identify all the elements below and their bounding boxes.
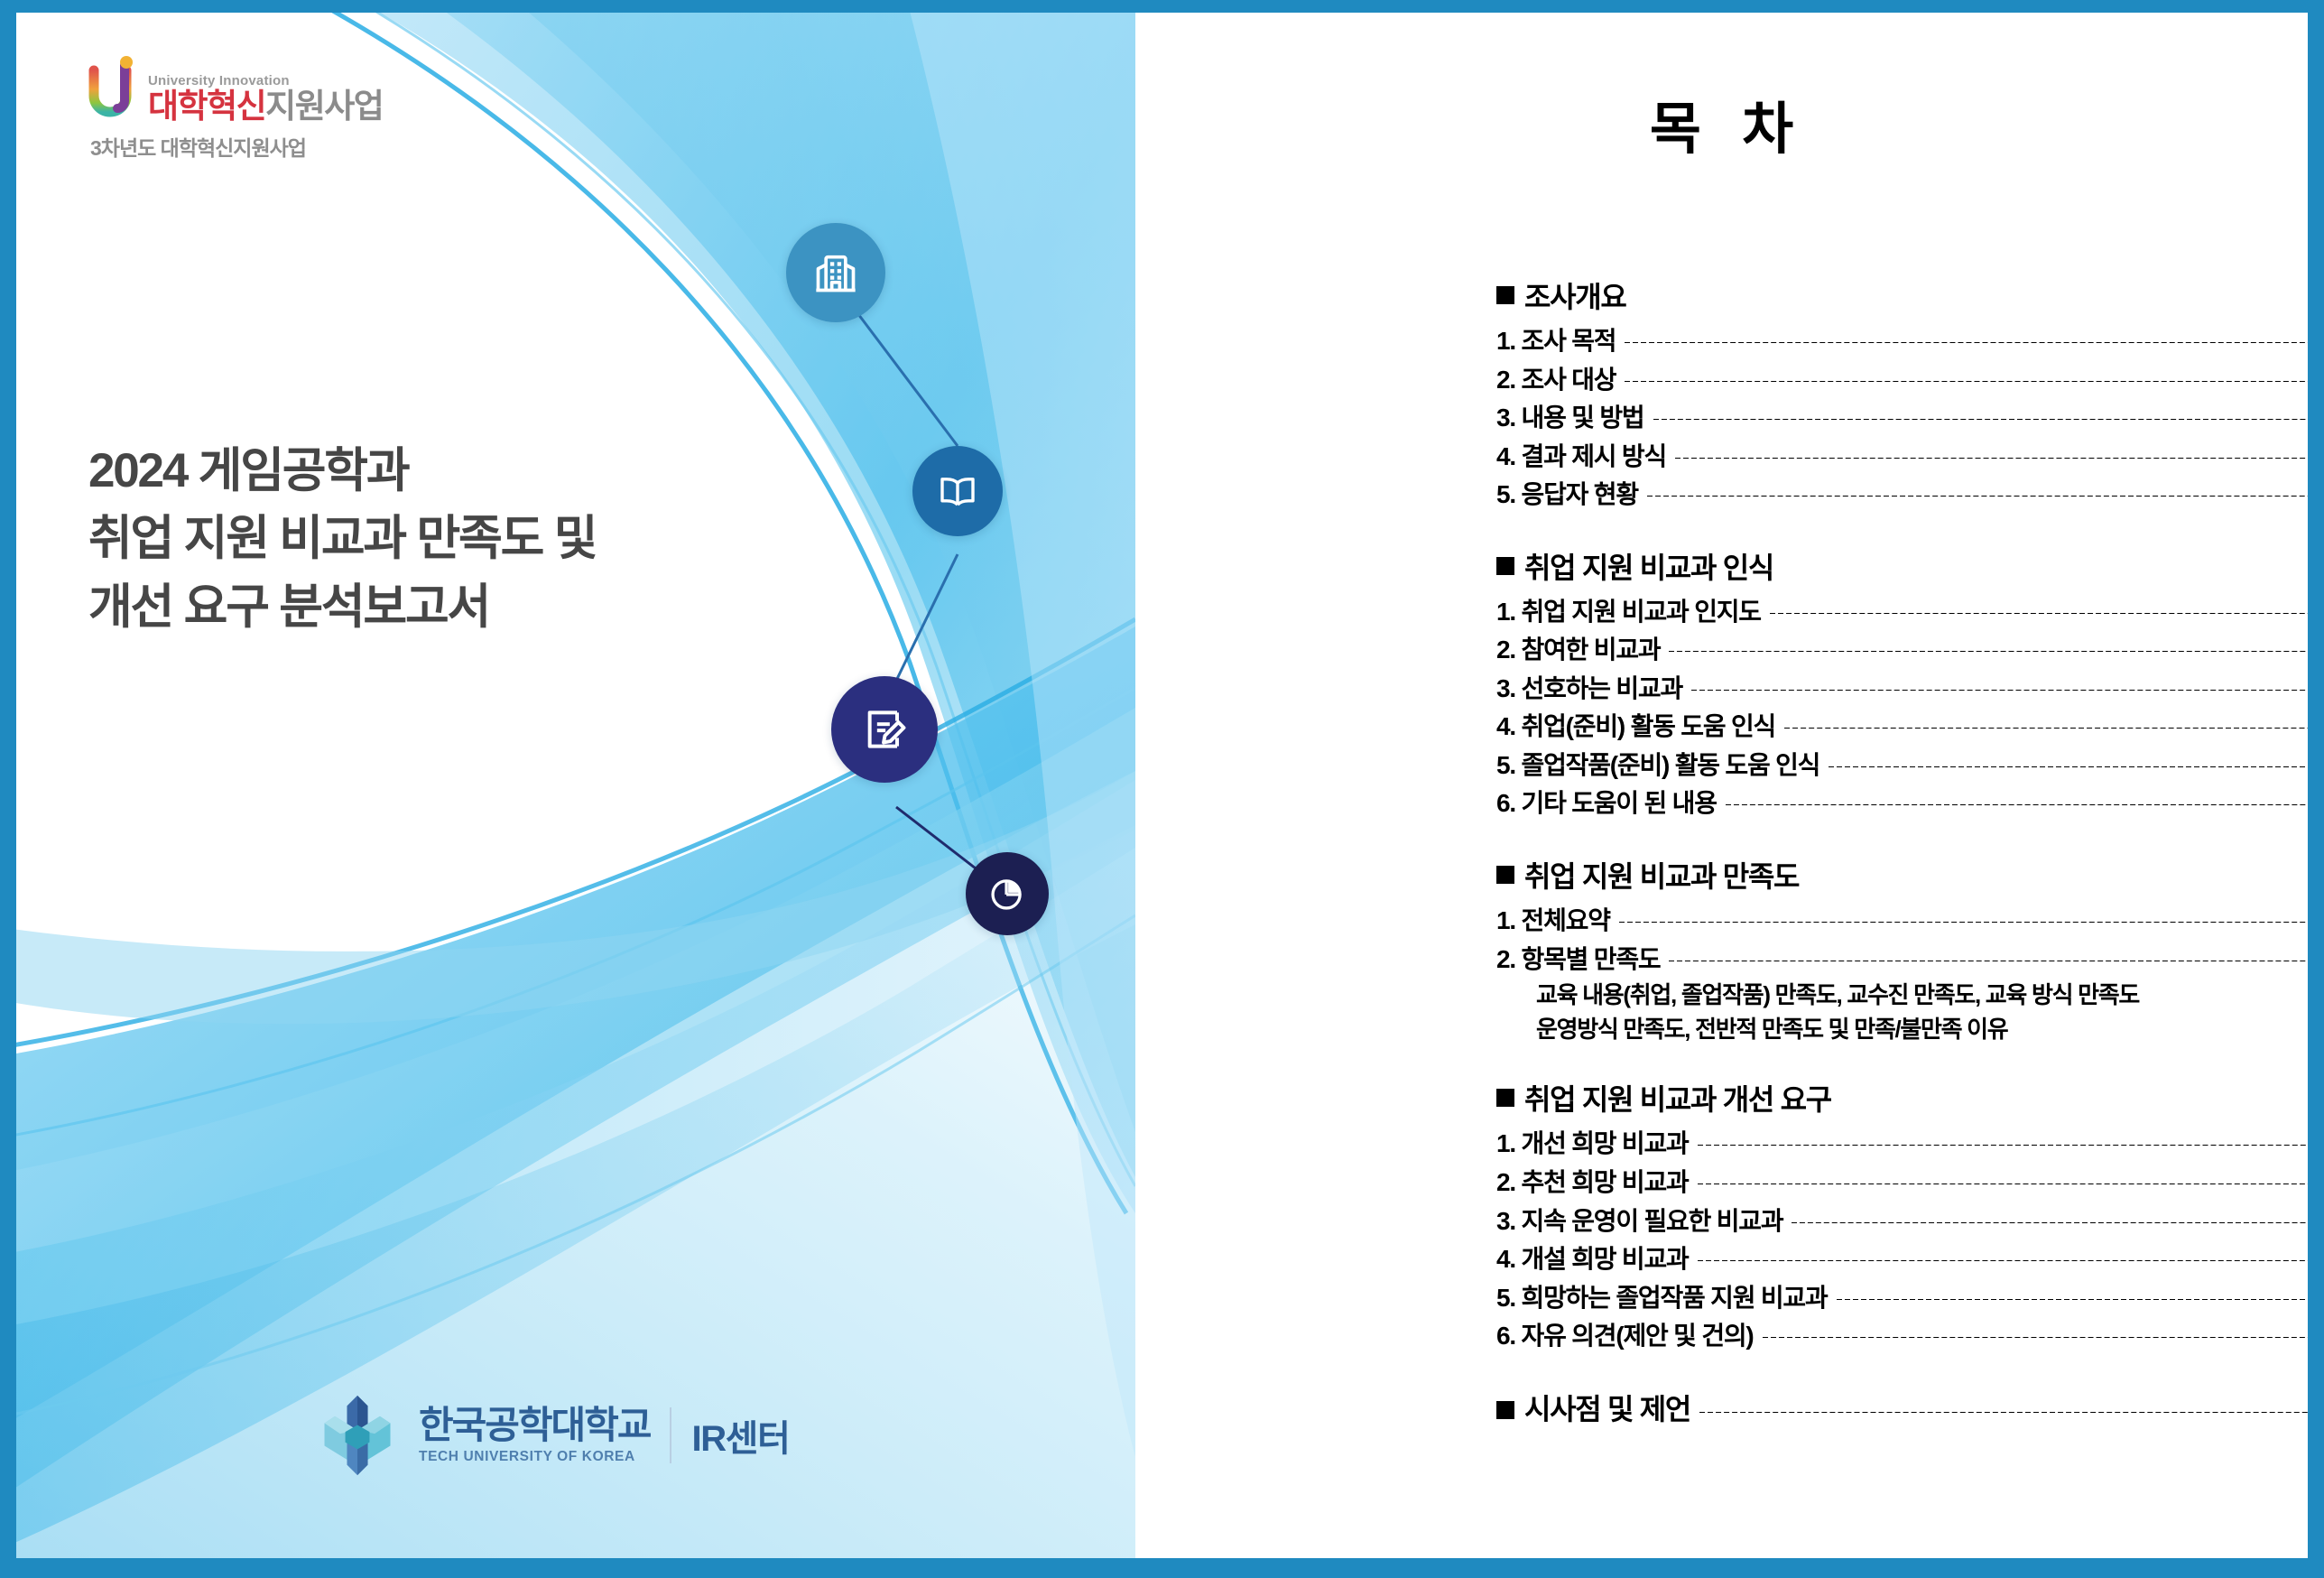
toc-final-heading: 시사점 및 제언 16 (1496, 1387, 2308, 1428)
toc-item[interactable]: 1. 전체요약 7 (1496, 902, 2308, 941)
university-english-name: TECH UNIVERSITY OF KOREA (419, 1449, 650, 1465)
toc-subnote: 운영방식 만족도, 전반적 만족도 및 만족/불만족 이유 (1496, 1013, 2308, 1047)
program-logo-kor-red: 대학혁신 (148, 88, 265, 125)
chain-node-survey (831, 676, 938, 783)
toc-leader-dots (1792, 1222, 2308, 1223)
toc-section-heading-label: 취업 지원 비교과 만족도 (1524, 854, 1799, 896)
icon-chain (16, 13, 1135, 1558)
tech-university-snowflake-icon (314, 1392, 401, 1479)
ir-center-name: IR센터 (691, 1409, 789, 1462)
toc-section-heading: 취업 지원 비교과 인식 (1496, 545, 2308, 587)
toc-item[interactable]: 3. 지속 운영이 필요한 비교과 12 (1496, 1202, 2308, 1241)
toc-item-label: 5. 졸업작품(준비) 활동 도움 인식 (1496, 747, 1819, 785)
toc-item-label: 1. 조사 목적 (1496, 322, 1616, 361)
toc-item-label: 5. 희망하는 졸업작품 지원 비교과 (1496, 1279, 1828, 1318)
program-logo-subtitle: 3차년도 대학혁신지원사업 (90, 131, 383, 162)
toc-leader-dots (1784, 728, 2308, 729)
toc-section-heading-label: 취업 지원 비교과 개선 요구 (1524, 1077, 1831, 1119)
toc-leader-dots (1675, 458, 2308, 459)
logo-divider (670, 1407, 671, 1463)
toc-leader-dots (1698, 1260, 2308, 1261)
toc-item[interactable]: 3. 선호하는 비교과 4 (1496, 670, 2308, 709)
university-logo: 한국공학대학교 TECH UNIVERSITY OF KOREA IR센터 (314, 1392, 789, 1479)
toc-leader-dots (1699, 1412, 2308, 1413)
university-innovation-mark-icon (87, 56, 139, 123)
toc-section-final[interactable]: 시사점 및 제언 16 (1496, 1387, 2308, 1428)
section-bullet-square-icon (1496, 1089, 1514, 1107)
toc-item[interactable]: 6. 기타 도움이 된 내용 6 (1496, 784, 2308, 823)
toc-item-label: 6. 자유 의견(제안 및 건의) (1496, 1317, 1754, 1356)
toc-leader-dots (1669, 961, 2308, 961)
toc-item-label: 2. 조사 대상 (1496, 361, 1616, 400)
toc-item-label: 3. 내용 및 방법 (1496, 399, 1644, 438)
toc-item[interactable]: 4. 개설 희망 비교과 13 (1496, 1240, 2308, 1279)
section-bullet-square-icon (1496, 557, 1514, 575)
toc-item[interactable]: 5. 희망하는 졸업작품 지원 비교과 14 (1496, 1279, 2308, 1318)
toc-item-label: 5. 응답자 현황 (1496, 476, 1638, 515)
toc-item-label: 4. 결과 제시 방식 (1496, 438, 1666, 477)
chain-node-building (786, 223, 885, 322)
toc-item-label: 3. 선호하는 비교과 (1496, 670, 1682, 709)
chain-node-pie-chart (966, 852, 1049, 935)
section-bullet-square-icon (1496, 1401, 1514, 1419)
pie-chart-icon (987, 874, 1027, 914)
toc-item[interactable]: 3. 내용 및 방법 1 (1496, 399, 2308, 438)
section-bullet-square-icon (1496, 866, 1514, 884)
toc-leader-dots (1653, 419, 2309, 420)
toc-leader-dots (1698, 1183, 2308, 1184)
cover-title: 2024 게임공학과 취업 지원 비교과 만족도 및 개선 요구 분석보고서 (88, 437, 596, 641)
toc-item-label: 6. 기타 도움이 된 내용 (1496, 784, 1717, 823)
toc-section-heading: 취업 지원 비교과 개선 요구 (1496, 1077, 2308, 1119)
toc-section: 취업 지원 비교과 인식 1. 취업 지원 비교과 인지도 3 2. 참여한 비… (1496, 545, 2308, 823)
university-korean-name: 한국공학대학교 (419, 1406, 650, 1445)
toc-title: 목 차 (1135, 83, 2308, 164)
toc-leader-dots (1625, 381, 2308, 382)
toc-item[interactable]: 1. 취업 지원 비교과 인지도 3 (1496, 593, 2308, 632)
toc-item-label: 3. 지속 운영이 필요한 비교과 (1496, 1202, 1782, 1241)
toc-item-label: 4. 개설 희망 비교과 (1496, 1240, 1689, 1279)
toc-leader-dots (1625, 342, 2308, 343)
program-logo-tagline: University Innovation (148, 73, 383, 88)
toc-item[interactable]: 2. 조사 대상 1 (1496, 361, 2308, 400)
toc-section-heading: 취업 지원 비교과 만족도 (1496, 854, 2308, 896)
toc-leader-dots (1698, 1145, 2308, 1146)
cover-panel: University Innovation 대학혁신지원사업 3차년도 대학혁신… (16, 13, 1135, 1558)
toc-item[interactable]: 2. 추천 희망 비교과 12 (1496, 1164, 2308, 1202)
document-page: University Innovation 대학혁신지원사업 3차년도 대학혁신… (16, 13, 2308, 1558)
toc-item[interactable]: 4. 결과 제시 방식 1 (1496, 438, 2308, 477)
toc-item[interactable]: 5. 응답자 현황 2 (1496, 476, 2308, 515)
toc-section-heading-label: 조사개요 (1524, 274, 1626, 316)
toc-item[interactable]: 1. 조사 목적 1 (1496, 322, 2308, 361)
toc-final-heading-label: 시사점 및 제언 (1524, 1387, 1690, 1428)
toc-section-heading: 조사개요 (1496, 274, 2308, 316)
toc-leader-dots (1829, 766, 2308, 767)
program-logo-kor-gray: 지원사업 (265, 88, 383, 125)
toc-item-label: 2. 항목별 만족도 (1496, 941, 1660, 979)
toc-leader-dots (1691, 690, 2308, 691)
cover-title-line-1: 2024 게임공학과 (88, 437, 596, 505)
toc-item-label: 1. 개선 희망 비교과 (1496, 1125, 1689, 1164)
cover-title-line-3: 개선 요구 분석보고서 (88, 573, 596, 641)
program-logo: University Innovation 대학혁신지원사업 3차년도 대학혁신… (87, 56, 383, 162)
toc-leader-dots (1770, 613, 2308, 614)
toc-item-label: 1. 전체요약 (1496, 902, 1610, 941)
toc-leader-dots (1669, 651, 2308, 652)
building-icon (812, 249, 859, 296)
toc-item-label: 4. 취업(준비) 활동 도움 인식 (1496, 708, 1775, 747)
toc-item-label: 2. 추천 희망 비교과 (1496, 1164, 1689, 1202)
toc-panel: 목 차 조사개요 1. 조사 목적 1 2. 조사 대상 1 (1135, 13, 2308, 1558)
toc-leader-dots (1647, 496, 2308, 497)
cover-title-line-2: 취업 지원 비교과 만족도 및 (88, 505, 596, 572)
toc-leader-dots (1726, 804, 2308, 805)
toc-section: 조사개요 1. 조사 목적 1 2. 조사 대상 1 3. 내용 및 방법 1 (1496, 274, 2308, 515)
toc-item[interactable]: 1. 개선 희망 비교과 - 11 (1496, 1125, 2308, 1164)
toc-item[interactable]: 2. 참여한 비교과 3 (1496, 631, 2308, 670)
program-logo-korean-name: 대학혁신지원사업 (148, 89, 383, 123)
survey-document-icon (859, 704, 910, 755)
chain-node-book (912, 446, 1003, 536)
book-icon (936, 469, 979, 513)
toc-leader-dots (1619, 922, 2308, 923)
toc-section: 취업 지원 비교과 개선 요구 1. 개선 희망 비교과 - 11 2. 추천 … (1496, 1077, 2308, 1355)
toc-section: 취업 지원 비교과 만족도 1. 전체요약 7 2. 항목별 만족도 7 교육 … (1496, 854, 2308, 1046)
toc-section-heading-label: 취업 지원 비교과 인식 (1524, 545, 1773, 587)
toc-leader-dots (1763, 1337, 2308, 1338)
section-bullet-square-icon (1496, 286, 1514, 304)
toc-item[interactable]: 6. 자유 의견(제안 및 건의) 15 (1496, 1317, 2308, 1356)
toc-item[interactable]: 5. 졸업작품(준비) 활동 도움 인식 6 (1496, 747, 2308, 785)
toc-leader-dots (1837, 1299, 2308, 1300)
toc-item-label: 1. 취업 지원 비교과 인지도 (1496, 593, 1761, 632)
toc-item[interactable]: 4. 취업(준비) 활동 도움 인식 5 (1496, 708, 2308, 747)
toc-subnote: 교육 내용(취업, 졸업작품) 만족도, 교수진 만족도, 교육 방식 만족도 (1496, 979, 2308, 1013)
toc-item-label: 2. 참여한 비교과 (1496, 631, 1660, 670)
toc-item[interactable]: 2. 항목별 만족도 7 (1496, 941, 2308, 979)
toc-body: 조사개요 1. 조사 목적 1 2. 조사 대상 1 3. 내용 및 방법 1 (1496, 274, 2308, 1434)
